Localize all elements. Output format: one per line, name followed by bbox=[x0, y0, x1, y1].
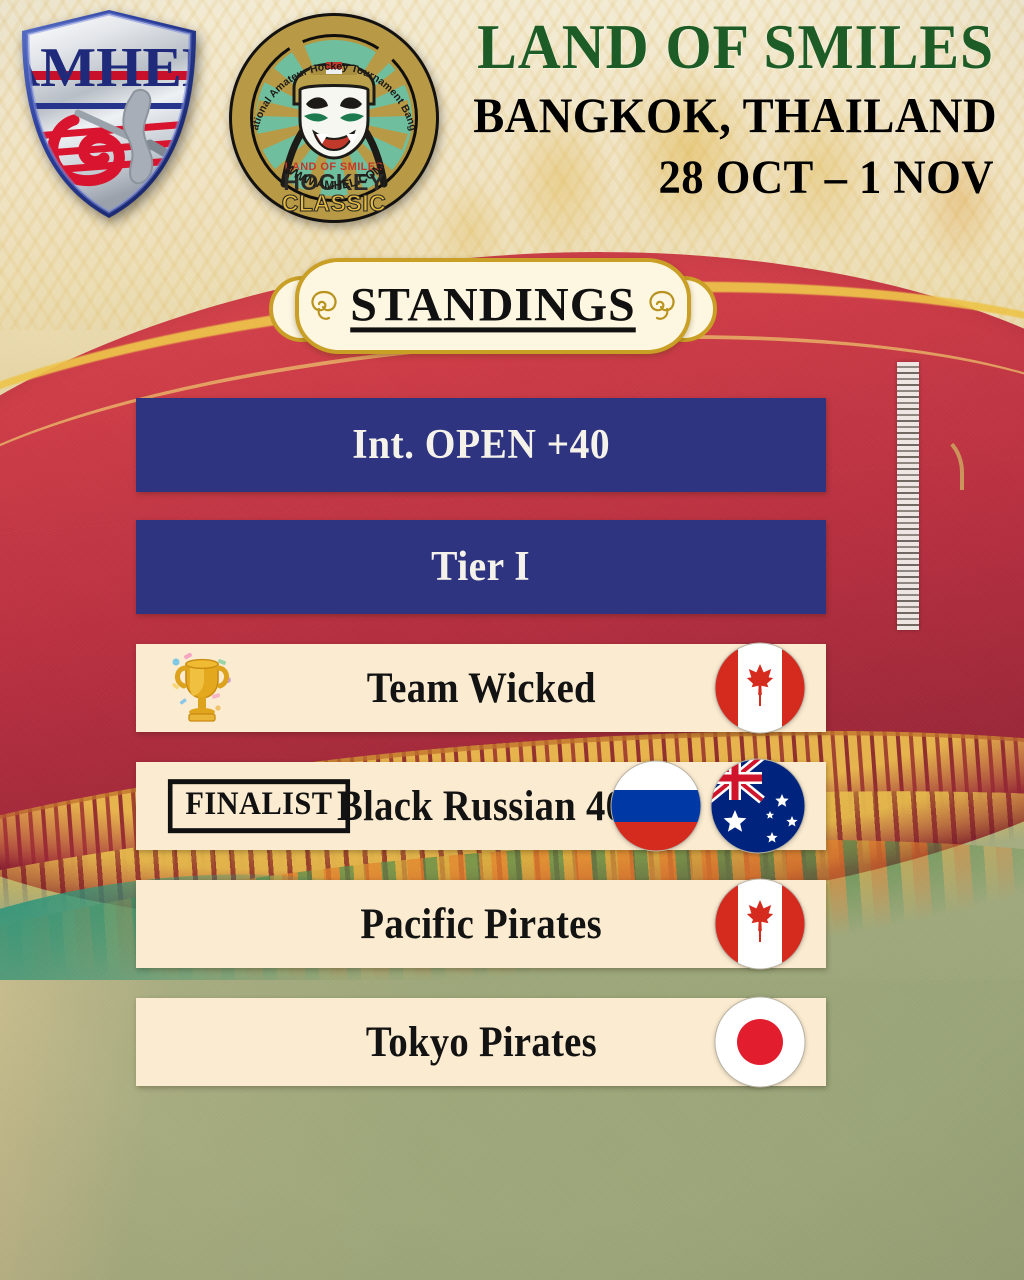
russia-flag-icon bbox=[608, 758, 704, 854]
table-row[interactable]: Pacific Pirates bbox=[136, 880, 826, 968]
poster-location: BANGKOK, THAILAND bbox=[473, 86, 994, 144]
team-flags bbox=[712, 876, 808, 972]
table-row[interactable]: Tokyo Pirates bbox=[136, 998, 826, 1086]
poster-dates: 28 OCT – 1 NOV bbox=[473, 150, 994, 206]
team-name: Black Russian 40 bbox=[337, 782, 625, 831]
division-bar: Int. OPEN +40 bbox=[136, 398, 826, 492]
land-of-smiles-hockey-classic-logo: LAND OF SMILES HOCKEY CLASSIC Annual Int… bbox=[228, 12, 440, 224]
finalist-label: FINALIST bbox=[168, 779, 350, 833]
header-title-block: LAND OF SMILES BANGKOK, THAILAND 28 OCT … bbox=[434, 12, 994, 206]
standings-title: STANDINGS bbox=[295, 277, 691, 332]
champion-badge bbox=[160, 646, 244, 730]
japan-flag-icon bbox=[712, 994, 808, 1090]
tier-bar: Tier I bbox=[136, 520, 826, 614]
canada-flag-icon bbox=[712, 640, 808, 736]
division-label: Int. OPEN +40 bbox=[352, 421, 610, 469]
svg-text:AMHEL: AMHEL bbox=[14, 37, 204, 98]
team-name: Pacific Pirates bbox=[360, 900, 602, 949]
standings-plaque: STANDINGS bbox=[295, 258, 691, 354]
team-flags bbox=[712, 994, 808, 1090]
temple-spire-ornament bbox=[897, 362, 919, 630]
canada-flag-icon bbox=[712, 876, 808, 972]
team-name: Tokyo Pirates bbox=[365, 1018, 596, 1067]
poster-header: AMHEL bbox=[0, 0, 1024, 250]
team-flags bbox=[608, 756, 808, 856]
poster-title: LAND OF SMILES bbox=[473, 12, 994, 82]
tier-label: Tier I bbox=[432, 543, 531, 591]
finalist-badge: FINALIST bbox=[160, 779, 358, 833]
standings-list: Int. OPEN +40 Tier I bbox=[136, 398, 826, 1116]
amhel-shield-logo: AMHEL bbox=[14, 8, 204, 220]
table-row[interactable]: Team Wicked bbox=[136, 644, 826, 732]
team-flags bbox=[712, 640, 808, 736]
team-name: Team Wicked bbox=[366, 664, 595, 713]
svg-text:CLASSIC: CLASSIC bbox=[282, 190, 386, 216]
australia-flag-icon bbox=[708, 756, 808, 856]
trophy-icon bbox=[160, 646, 244, 730]
tournament-standings-poster: AMHEL bbox=[0, 0, 1024, 1280]
table-row[interactable]: FINALIST Black Russian 40 bbox=[136, 762, 826, 850]
